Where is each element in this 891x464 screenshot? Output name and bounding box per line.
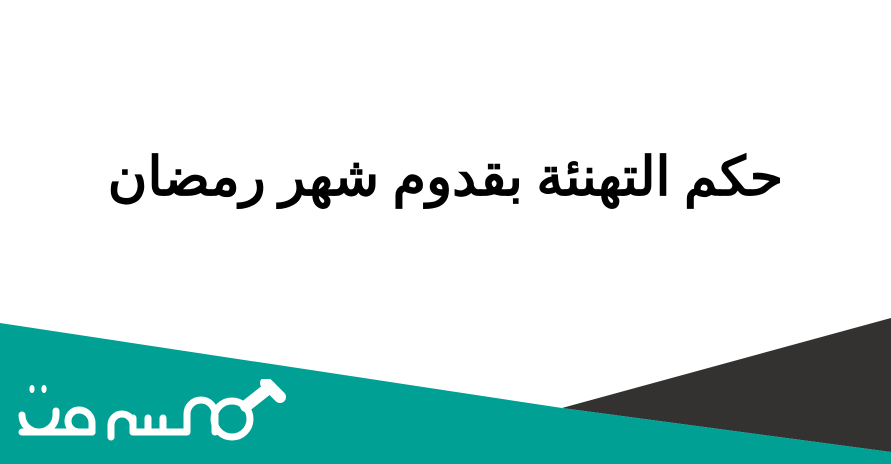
brand-logo[interactable]: موسوعة xyxy=(8,379,294,447)
poster-canvas: حكم التهنئة بقدوم شهر رمضان موسوعة xyxy=(0,0,891,464)
letter-seen xyxy=(133,418,175,432)
page-title: حكم التهنئة بقدوم شهر رمضان xyxy=(108,144,783,212)
ta-marbuta-dot-right xyxy=(41,385,46,393)
ta-marbuta-dot-left xyxy=(29,385,34,393)
title-area: حكم التهنئة بقدوم شهر رمضان xyxy=(0,0,891,320)
letter-ain xyxy=(68,410,92,432)
letter-waw-right xyxy=(175,400,215,432)
